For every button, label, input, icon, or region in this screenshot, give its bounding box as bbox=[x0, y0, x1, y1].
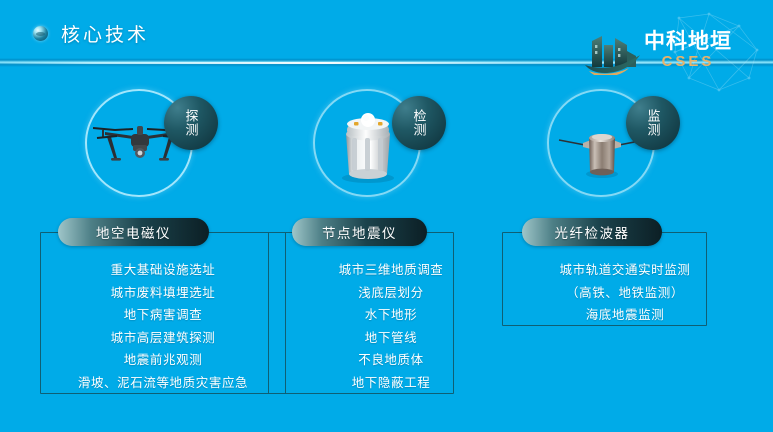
badge-label-2: 检测 bbox=[392, 96, 446, 150]
list-item: 地下管线 bbox=[365, 330, 417, 346]
building-mountain-logo-icon bbox=[583, 25, 641, 75]
list-item: 地震前兆观测 bbox=[124, 352, 203, 368]
panel-list-1: 重大基础设施选址 城市废料填埋选址 地下病害调查 城市高层建筑探测 地震前兆观测… bbox=[40, 262, 286, 391]
badge-label-text-2: 检测 bbox=[412, 109, 427, 137]
panel-title-pill-3: 光纤检波器 bbox=[522, 218, 662, 246]
logo-name-cn: 中科地垣 bbox=[644, 31, 732, 53]
panel-title-pill-2: 节点地震仪 bbox=[292, 218, 427, 246]
technology-column-3: 监测 光纤检波器 城市轨道交通实时监测 （高铁、地铁监测） 海底地震监测 bbox=[502, 84, 748, 218]
slide-canvas: 核心技术 bbox=[0, 0, 773, 432]
badge-label-3: 监测 bbox=[626, 96, 680, 150]
list-item: 不良地质体 bbox=[358, 352, 424, 368]
panel-title-2: 节点地震仪 bbox=[322, 222, 397, 242]
panel-list-3: 城市轨道交通实时监测 （高铁、地铁监测） 海底地震监测 bbox=[502, 262, 748, 323]
badge-label-1: 探测 bbox=[164, 96, 218, 150]
list-item: 海底地震监测 bbox=[586, 307, 665, 323]
logo-name-en: CSES bbox=[644, 53, 732, 70]
badge-label-text-1: 探测 bbox=[184, 109, 199, 137]
list-item: 城市轨道交通实时监测 bbox=[559, 262, 690, 278]
list-item: （高铁、地铁监测） bbox=[566, 285, 684, 301]
list-item: 地下隐蔽工程 bbox=[352, 375, 431, 391]
technology-column-2: 检测 节点地震仪 城市三维地质调查 浅底层划分 水下地形 地下管线 不良地质体 … bbox=[268, 84, 514, 218]
panel-title-3: 光纤检波器 bbox=[555, 222, 630, 242]
globe-icon bbox=[33, 26, 48, 41]
badge-cluster-3: 监测 bbox=[525, 84, 725, 204]
page-title: 核心技术 bbox=[61, 20, 149, 47]
list-item: 城市三维地质调查 bbox=[339, 262, 444, 278]
brand-logo: 中科地垣 CSES bbox=[583, 22, 761, 78]
panel-title-pill-1: 地空电磁仪 bbox=[58, 218, 209, 246]
badge-cluster-1: 探测 bbox=[63, 84, 263, 204]
list-item: 城市废料填埋选址 bbox=[111, 285, 216, 301]
technology-column-1: 探测 地空电磁仪 重大基础设施选址 城市废料填埋选址 地下病害调查 城市高层建筑… bbox=[40, 84, 286, 218]
list-item: 滑坡、泥石流等地质灾害应急 bbox=[78, 375, 248, 391]
list-item: 水下地形 bbox=[365, 307, 417, 323]
logo-text: 中科地垣 CSES bbox=[644, 31, 732, 70]
list-item: 重大基础设施选址 bbox=[111, 262, 216, 278]
panel-list-2: 城市三维地质调查 浅底层划分 水下地形 地下管线 不良地质体 地下隐蔽工程 bbox=[268, 262, 514, 391]
technology-columns: 探测 地空电磁仪 重大基础设施选址 城市废料填埋选址 地下病害调查 城市高层建筑… bbox=[0, 84, 773, 394]
slide-header: 核心技术 bbox=[0, 0, 773, 66]
badge-label-text-3: 监测 bbox=[646, 109, 661, 137]
panel-title-1: 地空电磁仪 bbox=[96, 222, 171, 242]
list-item: 地下病害调查 bbox=[124, 307, 203, 323]
page-title-group: 核心技术 bbox=[33, 20, 149, 47]
list-item: 浅底层划分 bbox=[358, 285, 424, 301]
list-item: 城市高层建筑探测 bbox=[111, 330, 216, 346]
badge-cluster-2: 检测 bbox=[291, 84, 491, 204]
